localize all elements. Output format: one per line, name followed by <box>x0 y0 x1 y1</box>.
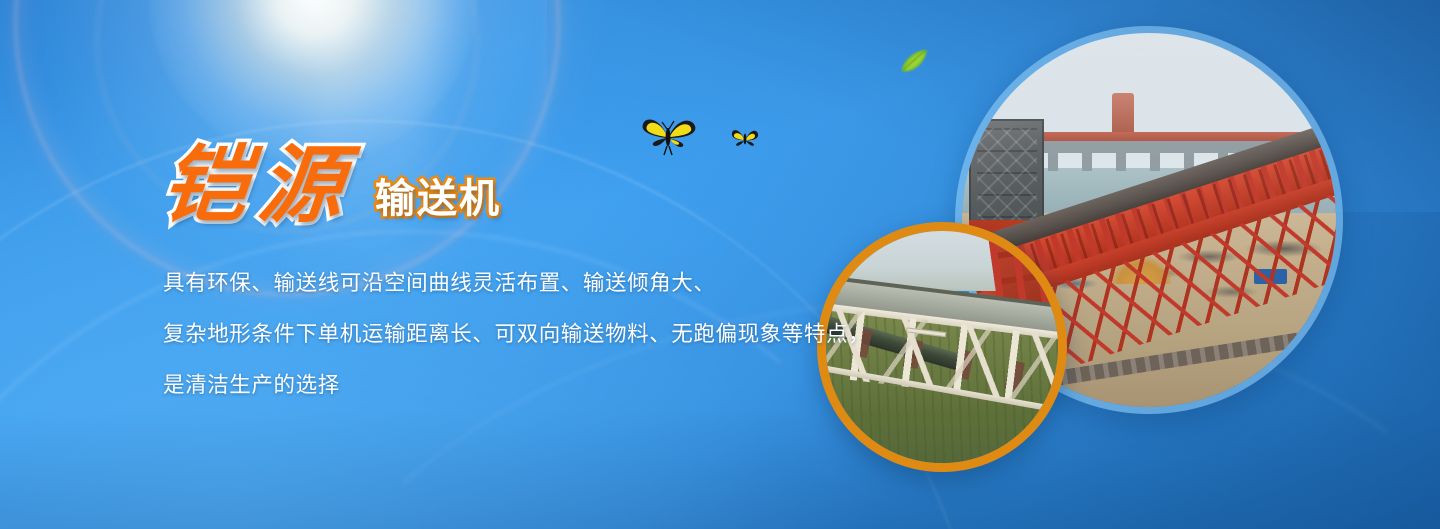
butterfly-large-icon <box>640 112 698 156</box>
description-line-1: 具有环保、输送线可沿空间曲线灵活布置、输送倾角大、 <box>163 258 953 309</box>
promo-banner: 铠源 输送机 具有环保、输送线可沿空间曲线灵活布置、输送倾角大、 复杂地形条件下… <box>0 0 1440 529</box>
butterfly-small-icon <box>730 126 760 150</box>
product-title: 输送机 <box>375 179 501 227</box>
description-block: 具有环保、输送线可沿空间曲线灵活布置、输送倾角大、 复杂地形条件下单机运输距离长… <box>163 258 953 411</box>
description-line-3: 是清洁生产的选择 <box>163 360 953 411</box>
brand-title: 铠源 <box>159 143 360 227</box>
headline-group: 铠源 输送机 <box>163 143 501 227</box>
description-line-2: 复杂地形条件下单机运输距离长、可双向输送物料、无跑偏现象等特点， <box>163 309 953 360</box>
